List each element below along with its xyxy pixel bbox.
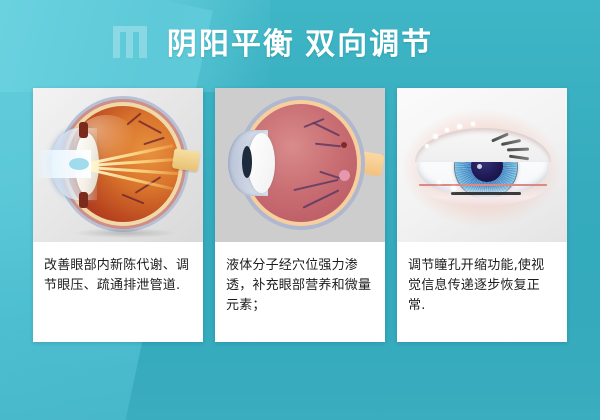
benefit-card-nutrition: 液体分子经穴位强力渗透，补充眼部营养和微量元素； <box>215 88 385 342</box>
front-eye-blue-iris-illustration <box>397 88 567 242</box>
poster-header: 阴阳平衡 双向调节 <box>0 0 600 92</box>
benefit-card-pupil: 调节瞳孔开缩功能,使视觉信息传递逐步恢复正常. <box>397 88 567 342</box>
benefit-card-caption: 液体分子经穴位强力渗透，补充眼部营养和微量元素； <box>215 242 385 342</box>
poster-canvas: 阴阳平衡 双向调节 改善眼部内新陈代谢、调节眼压、疏通排泄管道. <box>0 0 600 420</box>
eye-anatomy-optic-nerve-illustration <box>215 88 385 242</box>
benefit-card-caption: 改善眼部内新陈代谢、调节眼压、疏通排泄管道. <box>33 242 203 342</box>
benefit-card-metabolism: 改善眼部内新陈代谢、调节眼压、疏通排泄管道. <box>33 88 203 342</box>
benefit-card-caption: 调节瞳孔开缩功能,使视觉信息传递逐步恢复正常. <box>397 242 567 342</box>
benefit-card-list: 改善眼部内新陈代谢、调节眼压、疏通排泄管道. 液体分子经穴位强力渗透，补充眼部营… <box>33 88 567 342</box>
page-title: 阴阳平衡 双向调节 <box>0 22 600 68</box>
eye-cross-section-light-beam-illustration <box>33 88 203 242</box>
